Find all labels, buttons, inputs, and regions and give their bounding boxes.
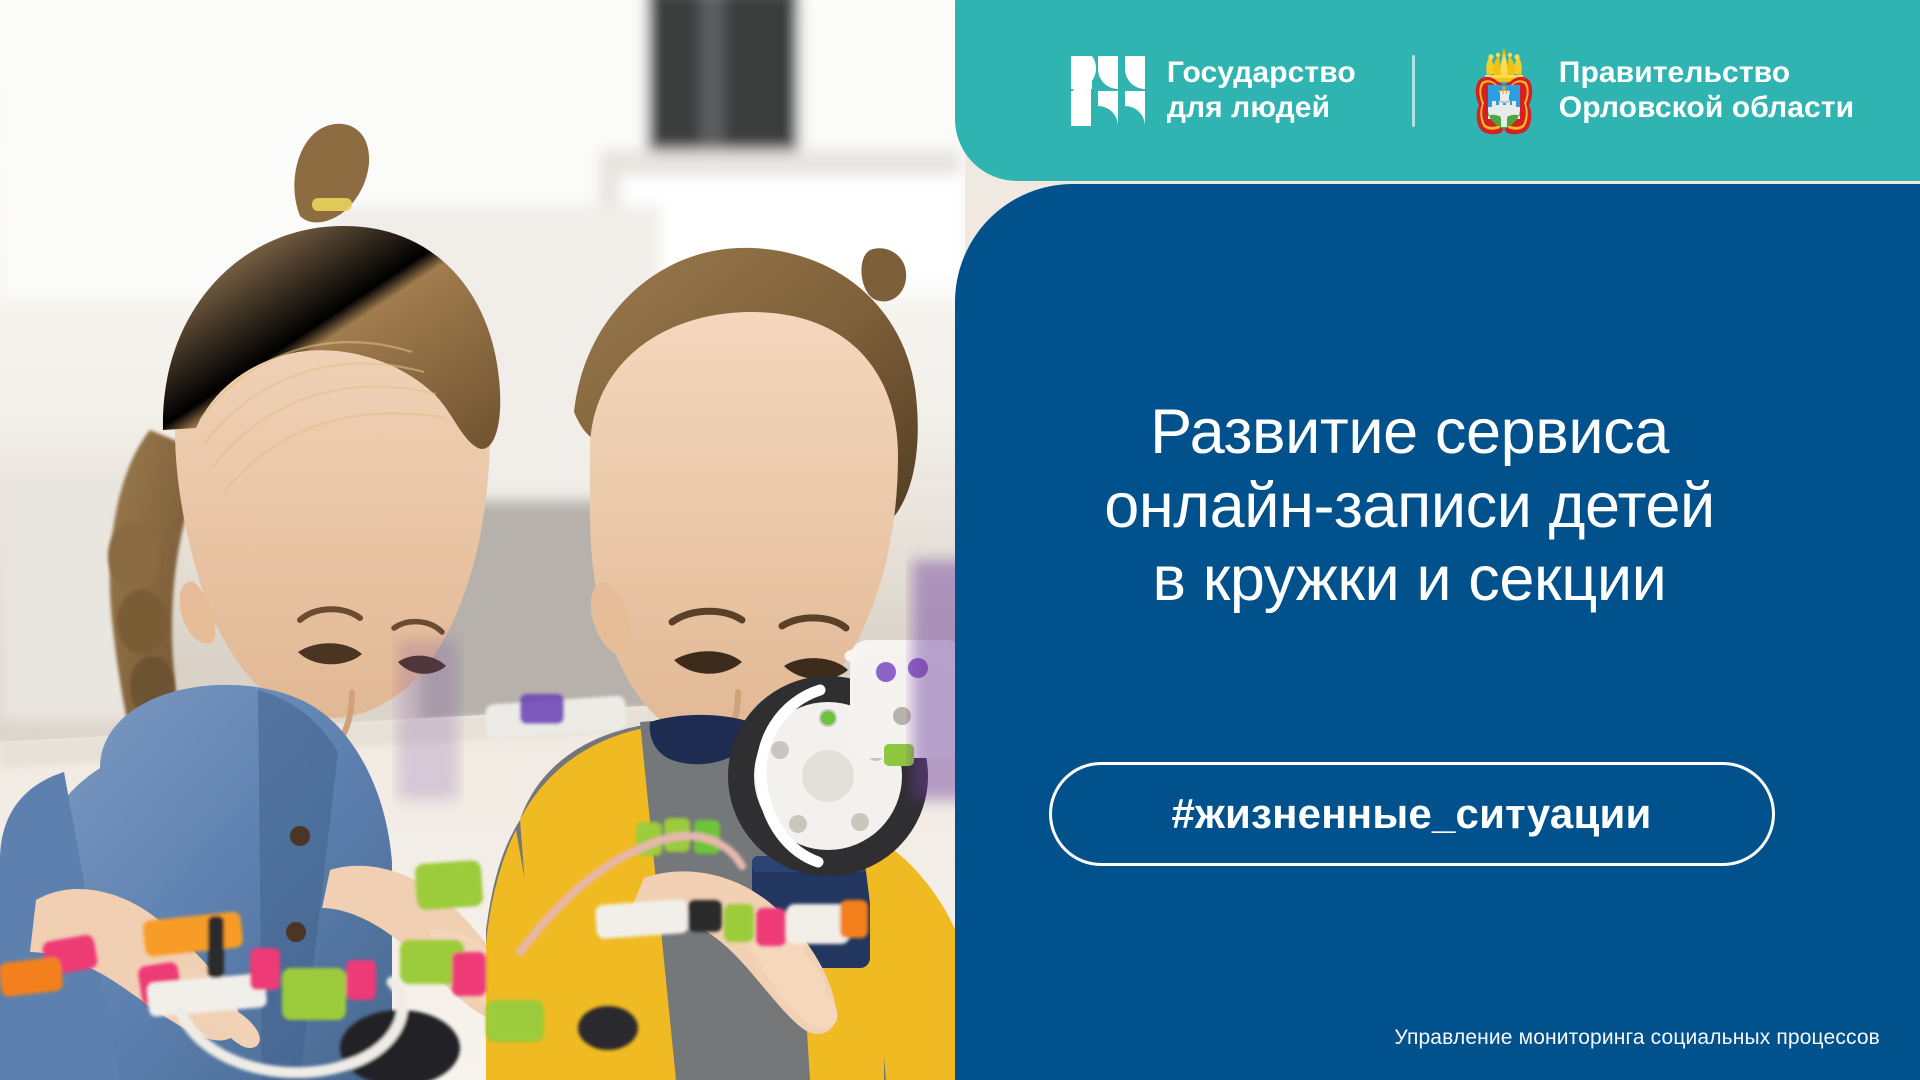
page-title: Развитие сервиса онлайн-записи детей в к… (955, 396, 1864, 617)
brand-lockup: Государство для людей (1071, 56, 1356, 126)
header-lockup-row: Государство для людей (955, 0, 1920, 181)
footer-department: Управление мониторинга социальных процес… (1394, 1026, 1880, 1050)
promo-poster: Государство для людей (0, 0, 1920, 1080)
content-panel: Развитие сервиса онлайн-записи детей в к… (955, 184, 1920, 1080)
gosudarstvo-dlya-lyudey-sails-icon (1071, 56, 1145, 126)
hashtag-button[interactable]: #жизненные_ситуации (1049, 762, 1775, 866)
government-lockup: Правительство Орловской области (1471, 45, 1854, 137)
photo-children-robotics (0, 0, 965, 1080)
header-panel: Государство для людей (955, 0, 1920, 181)
brand-title: Государство для людей (1167, 56, 1356, 126)
vertical-divider-icon (1412, 55, 1415, 127)
oryol-oblast-coat-of-arms-icon (1471, 45, 1537, 137)
hashtag-label: #жизненные_ситуации (1171, 790, 1651, 838)
government-title: Правительство Орловской области (1559, 56, 1854, 126)
